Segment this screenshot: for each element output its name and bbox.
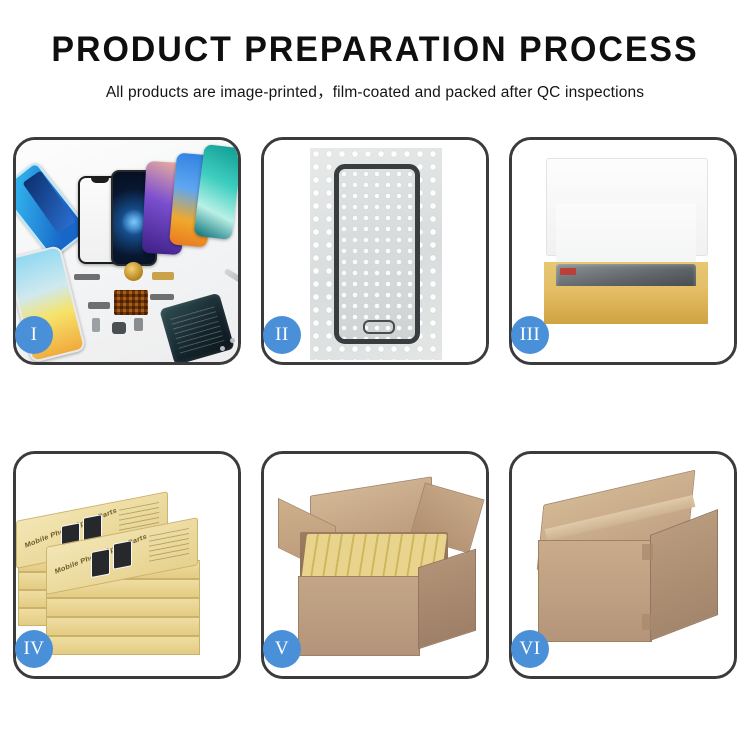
step-badge-3: III — [511, 316, 549, 354]
carton-front-panel — [298, 576, 420, 656]
process-step-2: II — [261, 137, 489, 365]
antenna-cable-icon — [150, 294, 174, 300]
sealed-shipping-carton — [534, 482, 720, 650]
bubble-wrap-sheet — [310, 148, 442, 360]
wrapped-screen-icon — [334, 164, 420, 344]
page-subtitle: All products are image-printed，film-coat… — [0, 80, 750, 102]
step-badge-2: II — [263, 316, 301, 354]
process-step-3: III — [509, 137, 737, 365]
process-step-4: Mobile Phone Spare Parts Mobile Phone Sp… — [13, 451, 241, 679]
carton-notch — [642, 614, 653, 630]
button-flex-icon — [152, 272, 174, 280]
page-title: PRODUCT PREPARATION PROCESS — [11, 32, 739, 69]
connector-icon — [88, 302, 110, 309]
chip-array-icon — [114, 290, 148, 315]
box-phone-thumbnail — [113, 540, 132, 570]
process-step-5: V — [261, 451, 489, 679]
screw-icon — [230, 338, 235, 343]
speaker-icon — [112, 322, 126, 334]
box-spec-lines — [149, 528, 189, 562]
open-shipping-carton — [280, 484, 474, 656]
stack-layer — [46, 617, 200, 636]
infographic-page: PRODUCT PREPARATION PROCESS All products… — [0, 0, 750, 750]
retail-box-stack: Mobile Phone Spare Parts Mobile Phone Sp… — [16, 476, 238, 660]
screw-icon — [220, 346, 225, 351]
process-step-6: VI — [509, 451, 737, 679]
header: PRODUCT PREPARATION PROCESS All products… — [0, 0, 750, 102]
carton-side-panel — [418, 549, 476, 650]
copper-coil-icon — [124, 262, 143, 281]
box-front-panel — [544, 286, 708, 324]
spare-parts-cluster — [72, 260, 238, 362]
step-badge-5: V — [263, 630, 301, 668]
logic-board-icon — [159, 293, 235, 362]
process-grid: I II III — [13, 137, 737, 679]
step-badge-1: I — [15, 316, 53, 354]
box-phone-thumbnail — [91, 548, 110, 578]
tweezers-icon — [223, 268, 238, 294]
stack-layer — [46, 636, 200, 655]
battery-chip-icon — [134, 318, 143, 331]
stack-layer — [46, 598, 200, 617]
process-step-1: I — [13, 137, 241, 365]
sim-tray-icon — [92, 318, 100, 332]
flex-cable-icon — [74, 274, 100, 280]
carton-front-panel — [538, 540, 652, 642]
carton-notch — [642, 544, 653, 560]
step-badge-4: IV — [15, 630, 53, 668]
open-kraft-box — [538, 158, 714, 344]
step-badge-6: VI — [511, 630, 549, 668]
